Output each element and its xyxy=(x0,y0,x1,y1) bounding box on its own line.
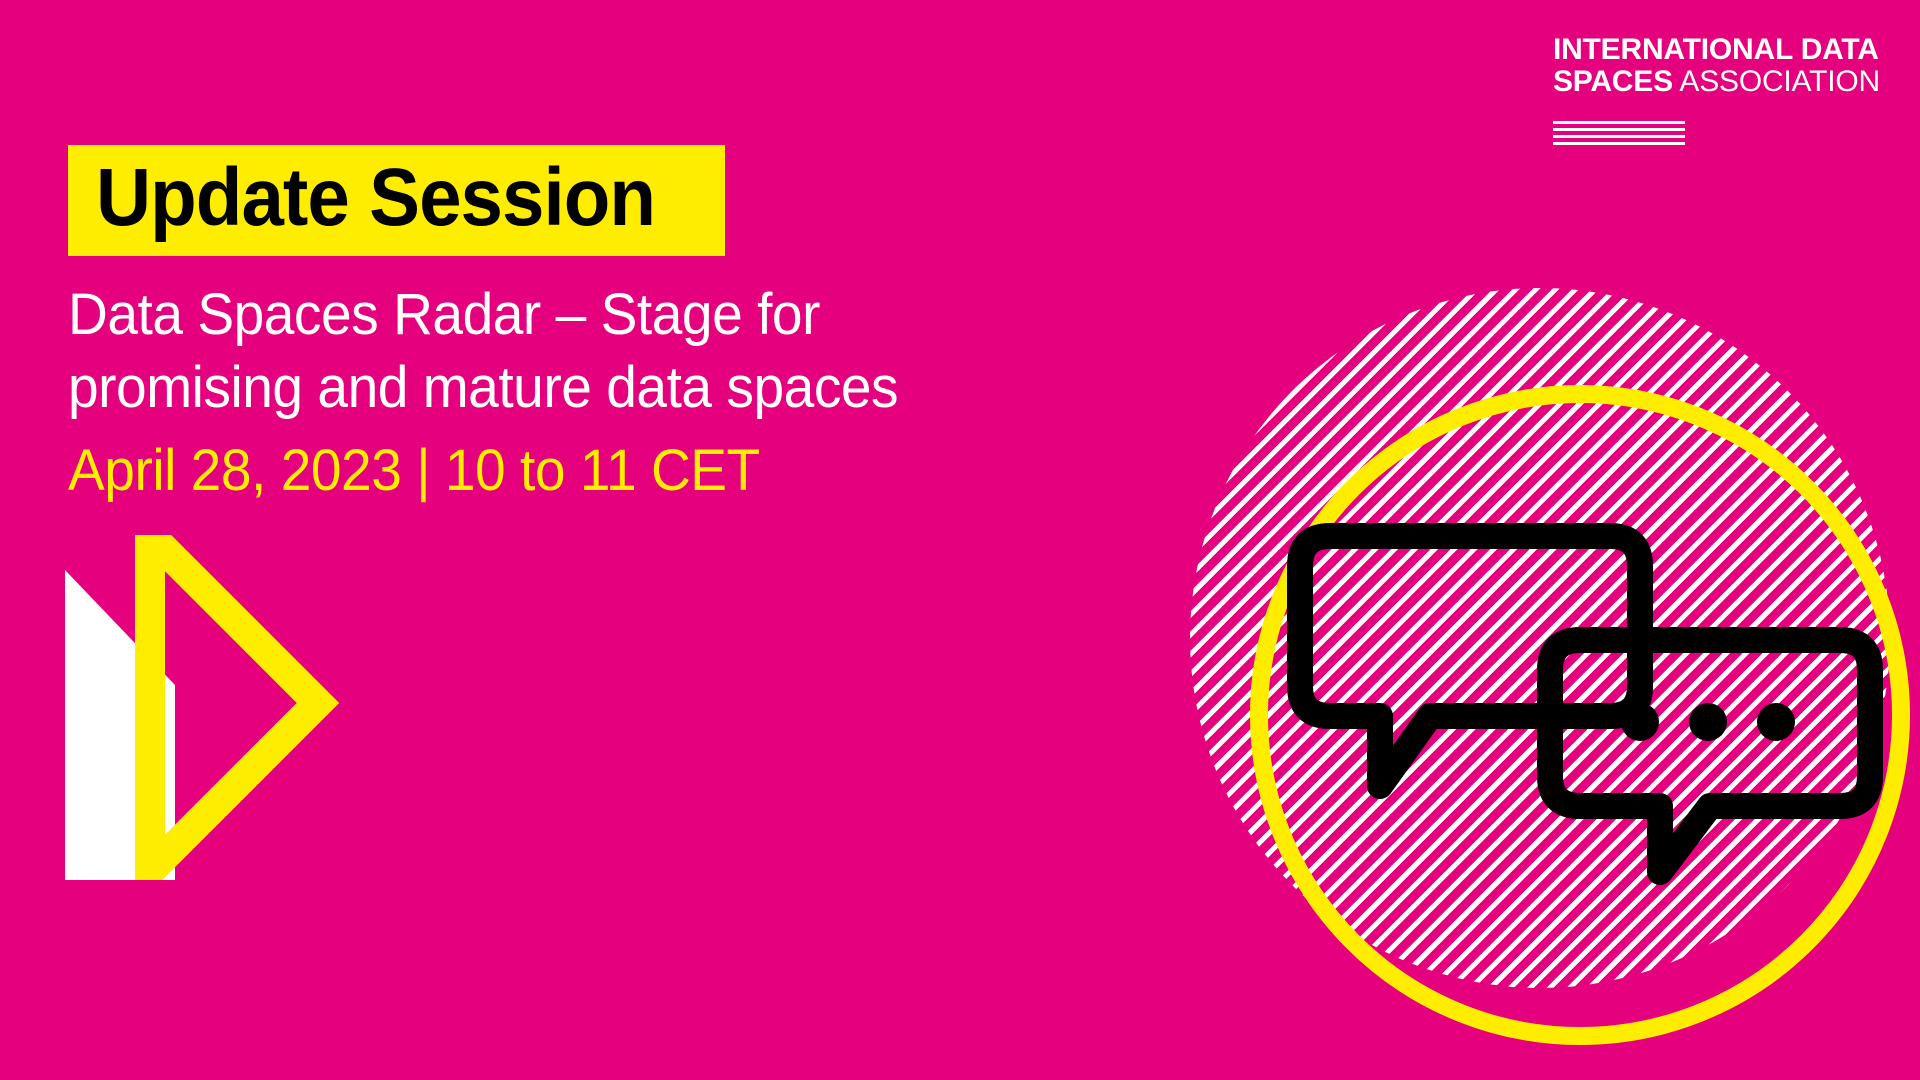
title-highlight: Update Session xyxy=(68,145,725,256)
yellow-triangle-outline-icon xyxy=(150,535,318,871)
speech-bubble-small xyxy=(1550,640,1870,872)
slide-canvas: INTERNATIONAL DATA SPACES ASSOCIATION Up… xyxy=(0,0,1920,1080)
bubble-dots-icon xyxy=(1621,703,1795,741)
speech-bubbles-group xyxy=(1280,500,1920,1020)
logo-line-1: INTERNATIONAL DATA xyxy=(1553,34,1880,66)
event-datetime: April 28, 2023 | 10 to 11 CET xyxy=(68,436,1047,506)
subtitle-line-1: Data Spaces Radar – Stage for xyxy=(68,278,1047,351)
subtitle-line-2: promising and mature data spaces xyxy=(68,351,1047,424)
speech-bubble-large xyxy=(1300,536,1640,786)
idsa-logo: INTERNATIONAL DATA SPACES ASSOCIATION xyxy=(1553,34,1880,145)
page-title: Update Session xyxy=(96,159,655,238)
logo-line-2-bold: SPACES xyxy=(1553,65,1673,98)
logo-line-2: SPACES ASSOCIATION xyxy=(1553,66,1880,98)
logo-line-2-light: ASSOCIATION xyxy=(1679,65,1880,98)
decorative-graphic xyxy=(1150,270,1920,1080)
text-block: Update Session Data Spaces Radar – Stage… xyxy=(68,145,1098,505)
logo-stripes-icon xyxy=(1553,121,1685,145)
subtitle: Data Spaces Radar – Stage for promising … xyxy=(68,278,1047,424)
play-arrow-mark xyxy=(65,535,375,880)
